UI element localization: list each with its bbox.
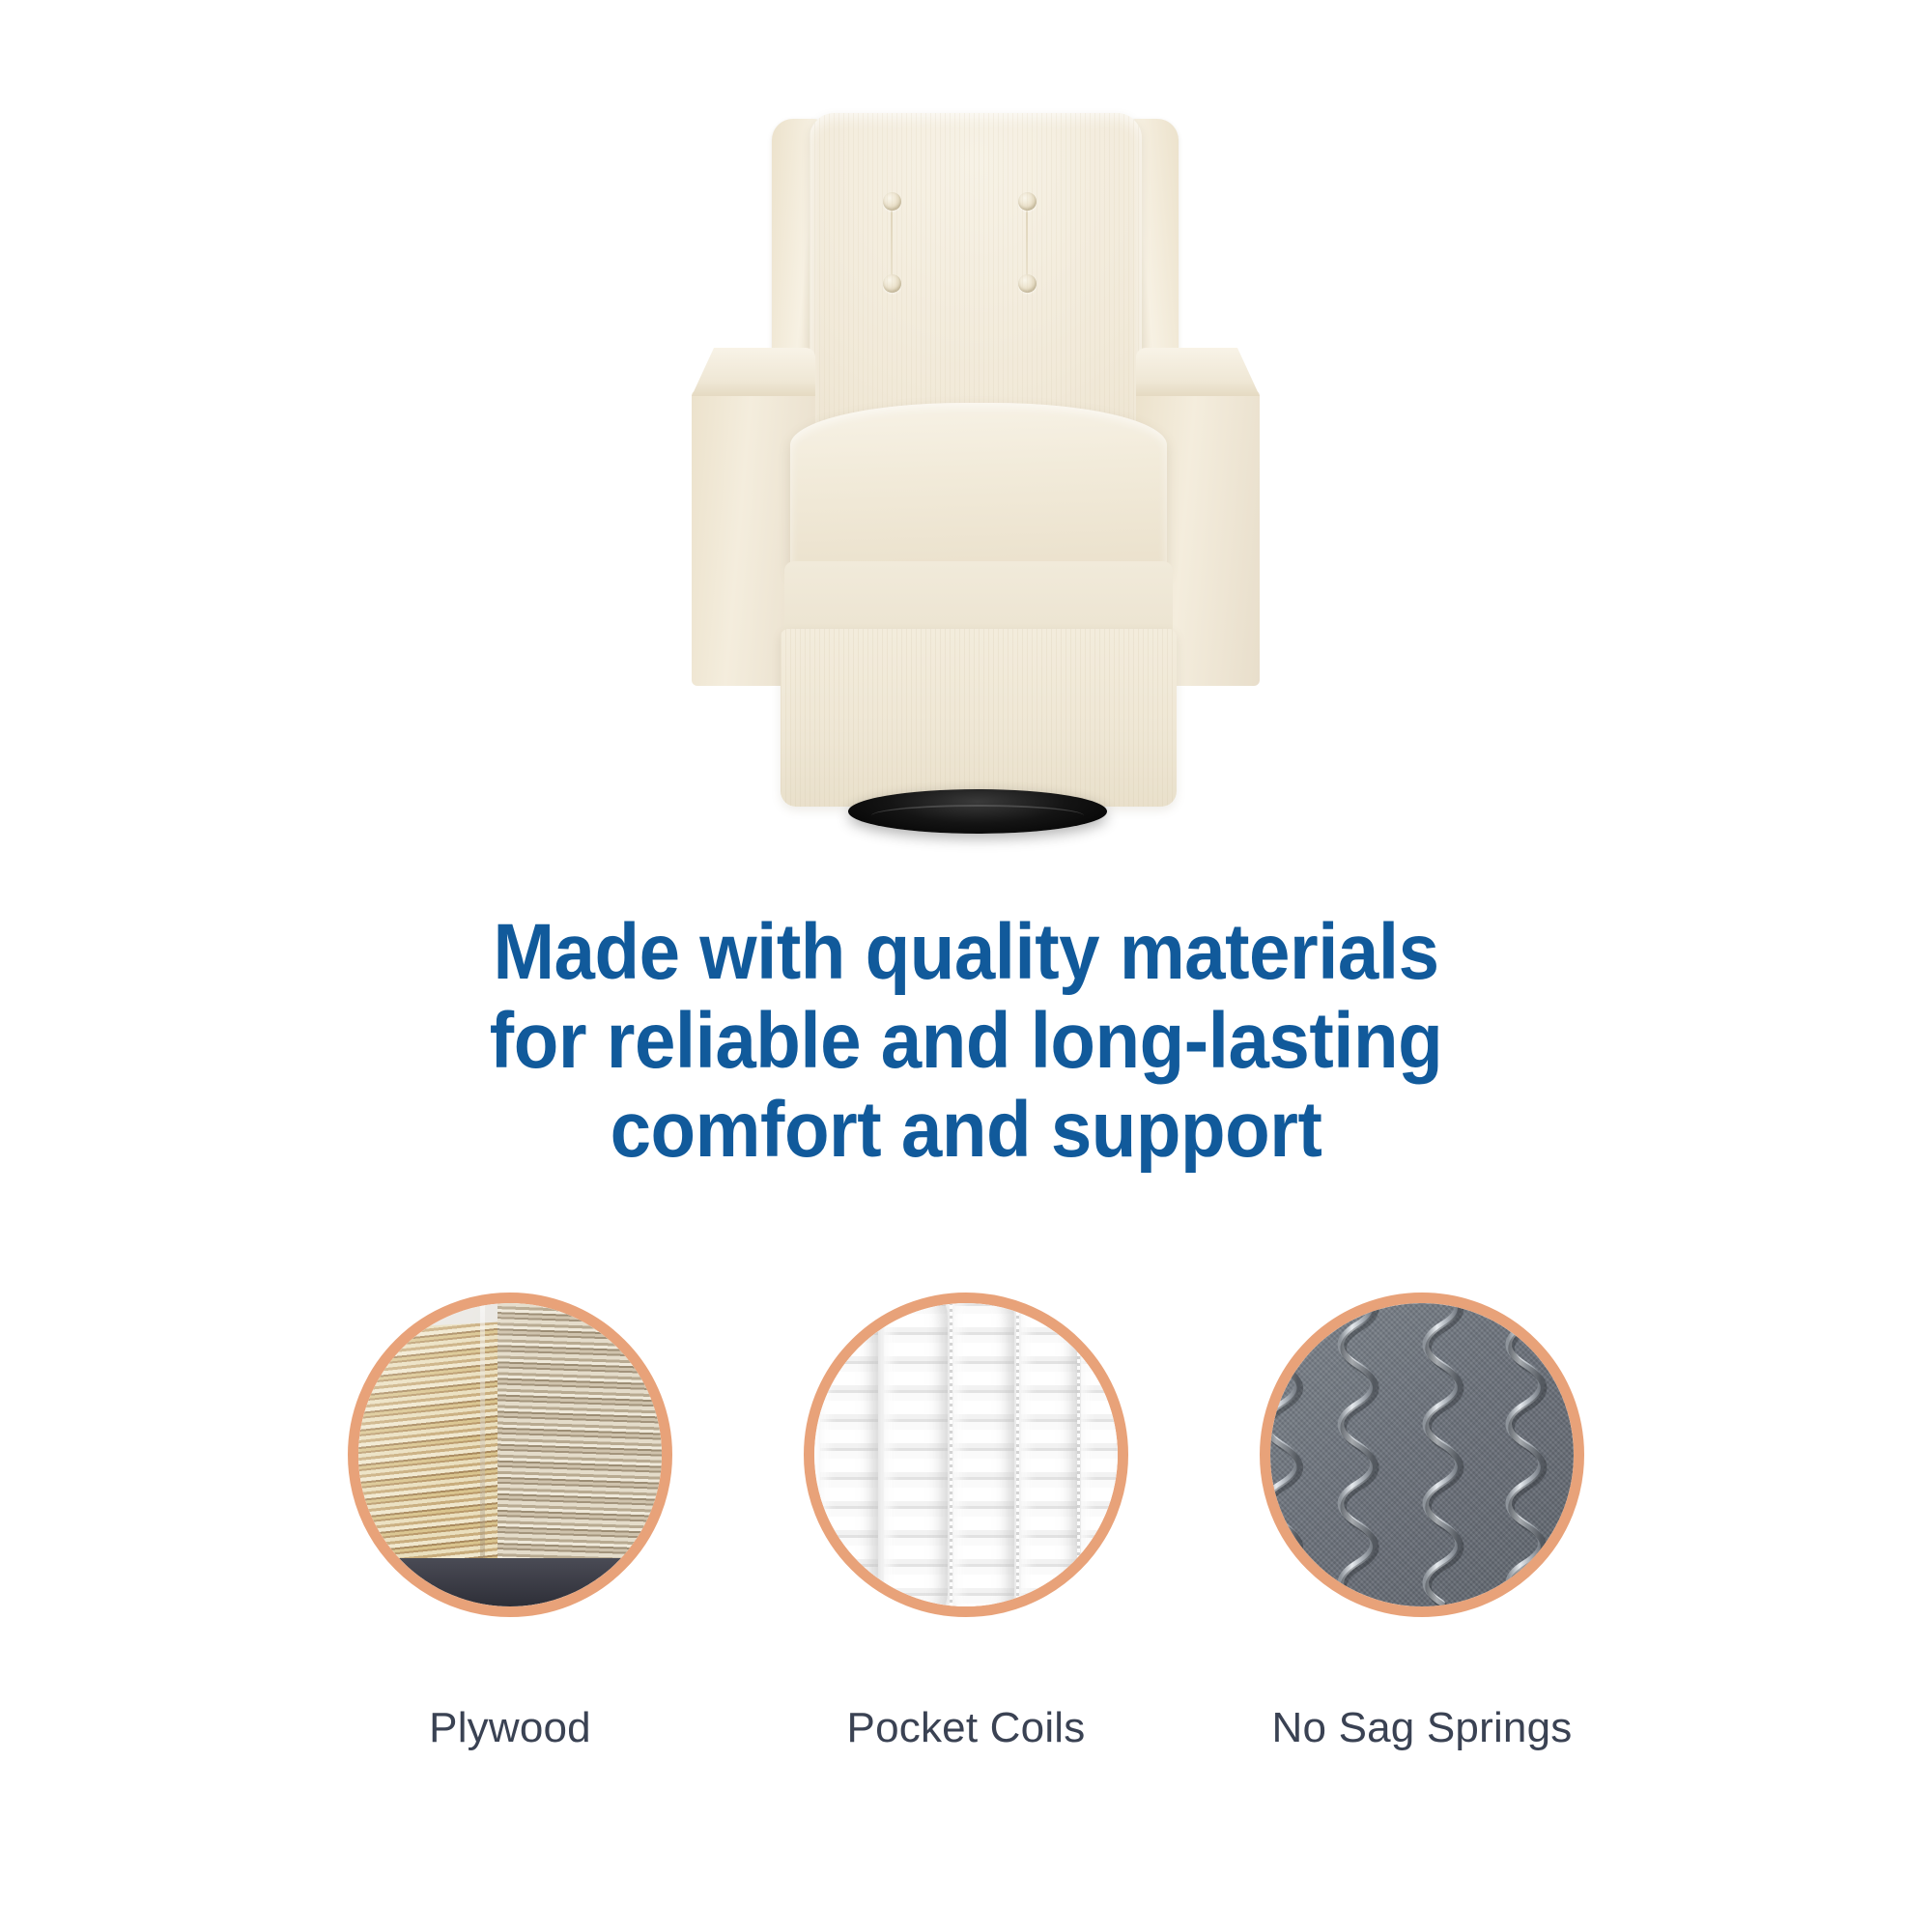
headline-line-2: for reliable and long-lasting [68,997,1864,1086]
chair-back-cushion [810,113,1142,432]
tuft-button [1018,274,1037,293]
arm-top-cap [692,348,815,396]
tuft-stitch-left [891,210,893,275]
tuft-button [1018,192,1037,211]
no-sag-springs-image-circle [1260,1293,1584,1617]
coil-column [884,1303,948,1606]
coil-column [953,1303,1014,1606]
hero-product-image [0,0,1932,898]
no-sag-springs-photo [1270,1303,1574,1606]
feature-pocket-coils: Pocket Coils [804,1293,1128,1833]
pocket-coils-photo [814,1303,1118,1606]
serpentine-springs-icon [1270,1303,1574,1606]
headline-line-3: comfort and support [68,1086,1864,1175]
plywood-highlight [358,1303,662,1606]
chair-seat-front [784,561,1173,637]
coil-column [820,1303,878,1606]
tuft-button [883,274,901,293]
chair-seat-cushion [790,403,1167,579]
headline-line-1: Made with quality materials [68,908,1864,997]
feature-label-no-sag-springs: No Sag Springs [1272,1704,1573,1752]
coil-tie-thread [1016,1303,1019,1606]
coil-tie-thread [950,1303,952,1606]
tuft-button [883,192,901,211]
arm-top-cap [1136,348,1260,396]
chair-base-skirt [781,629,1177,807]
feature-plywood: Plywood [348,1293,672,1833]
feature-label-plywood: Plywood [429,1704,591,1752]
plywood-photo [358,1303,662,1606]
coil-column [1081,1303,1118,1606]
chair-swivel-base [848,789,1107,834]
feature-row: Plywood Pocket Coils [0,1293,1932,1833]
pocket-coils-image-circle [804,1293,1128,1617]
swivel-glider-chair [676,92,1275,874]
feature-no-sag-springs: No Sag Springs [1260,1293,1584,1833]
tuft-stitch-right [1026,210,1028,275]
feature-label-pocket-coils: Pocket Coils [847,1704,1086,1752]
coil-tie-thread [1077,1303,1080,1606]
coil-column [1021,1303,1079,1606]
headline: Made with quality materials for reliable… [68,908,1864,1175]
plywood-image-circle [348,1293,672,1617]
